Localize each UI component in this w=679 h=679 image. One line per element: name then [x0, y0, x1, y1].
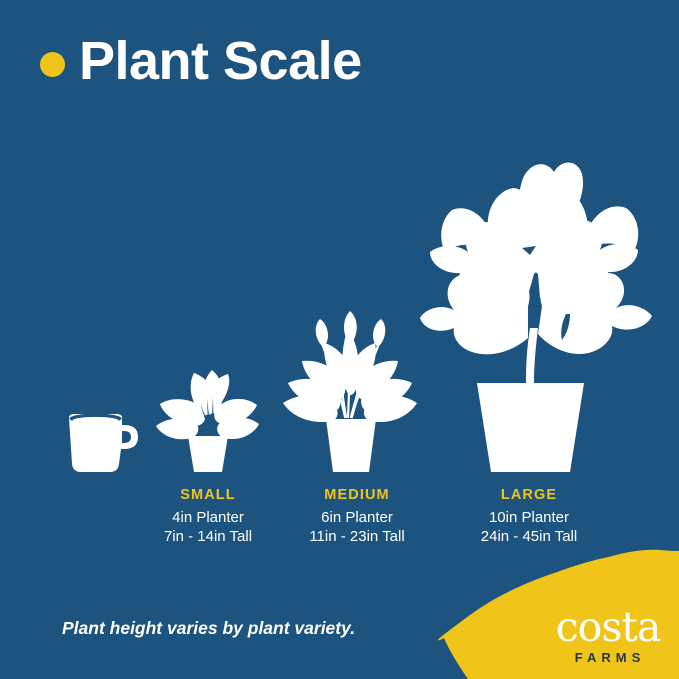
- costa-farms-logo: costa FARMS: [548, 608, 668, 665]
- plant-scale-infographic: Plant Scale: [0, 0, 679, 679]
- large-plant-icon: [420, 142, 664, 474]
- planter-size-small: 4in Planter: [148, 508, 268, 527]
- caption-medium: MEDIUM 6in Planter 11in - 23in Tall: [297, 486, 417, 546]
- planter-size-large: 10in Planter: [469, 508, 589, 527]
- specimen-stage: [0, 0, 679, 679]
- height-range-large: 24in - 45in Tall: [469, 527, 589, 546]
- size-label-medium: MEDIUM: [297, 486, 417, 505]
- height-range-medium: 11in - 23in Tall: [297, 527, 417, 546]
- caption-small: SMALL 4in Planter 7in - 14in Tall: [148, 486, 268, 546]
- small-plant-icon: [152, 364, 264, 474]
- logo-wordmark: costa: [548, 608, 668, 647]
- size-label-small: SMALL: [148, 486, 268, 505]
- coffee-mug-icon: [60, 412, 145, 474]
- height-range-small: 7in - 14in Tall: [148, 527, 268, 546]
- footnote-text: Plant height varies by plant variety.: [62, 618, 355, 639]
- medium-plant-icon: [282, 309, 418, 474]
- logo-subtext: FARMS: [552, 650, 668, 665]
- caption-large: LARGE 10in Planter 24in - 45in Tall: [469, 486, 589, 546]
- size-label-large: LARGE: [469, 486, 589, 505]
- planter-size-medium: 6in Planter: [297, 508, 417, 527]
